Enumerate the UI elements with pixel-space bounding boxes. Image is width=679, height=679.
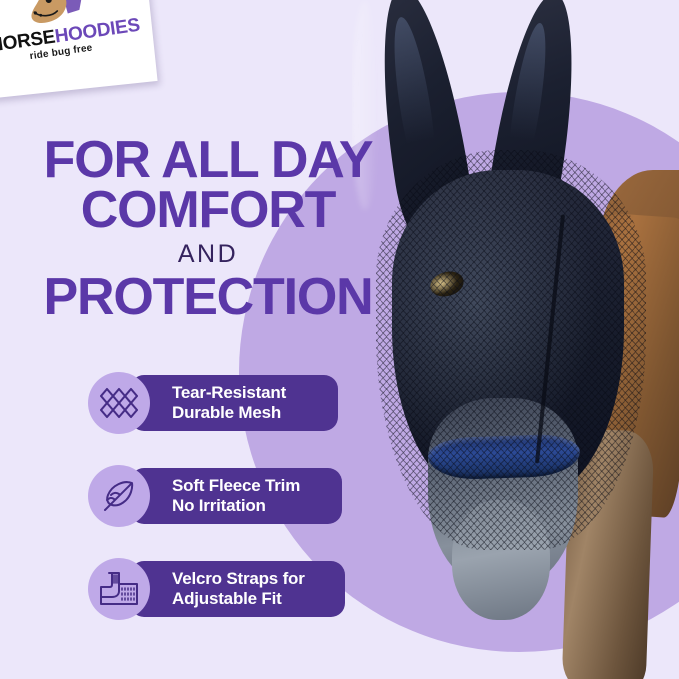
feature-item-fleece: Soft Fleece Trim No Irritation — [88, 465, 348, 527]
logo-banner: HORSEHOODIES ride bug free — [0, 0, 158, 98]
feature-pill-velcro: Velcro Straps for Adjustable Fit — [130, 561, 345, 617]
marketing-image-canvas: HORSEHOODIES ride bug free FOR ALL DAY C… — [0, 0, 679, 679]
feature-label-velcro: Velcro Straps for Adjustable Fit — [172, 569, 305, 609]
feature-icon-circle-fleece — [88, 465, 150, 527]
product-photo — [352, 0, 679, 679]
feature-pill-mesh: Tear-Resistant Durable Mesh — [130, 375, 338, 431]
headline-block: FOR ALL DAY COMFORT AND PROTECTION — [22, 136, 394, 323]
feature-label-fleece: Soft Fleece Trim No Irritation — [172, 476, 300, 516]
feature-label-mesh: Tear-Resistant Durable Mesh — [172, 383, 286, 423]
headline-line-3: PROTECTION — [22, 273, 394, 323]
feature-item-mesh: Tear-Resistant Durable Mesh — [88, 372, 348, 434]
feature-icon-circle-mesh — [88, 372, 150, 434]
feature-icon-circle-velcro — [88, 558, 150, 620]
headline-line-2: COMFORT — [22, 186, 394, 236]
feather-icon — [100, 477, 138, 515]
fly-mask-mesh — [376, 150, 646, 550]
feature-pill-fleece: Soft Fleece Trim No Irritation — [130, 468, 342, 524]
feature-list: Tear-Resistant Durable Mesh Soft Fl — [88, 372, 348, 651]
mesh-lattice-icon — [100, 385, 138, 421]
logo-lockup: HORSEHOODIES ride bug free — [0, 0, 132, 74]
velcro-strap-icon — [99, 571, 139, 607]
headline-line-1: FOR ALL DAY — [22, 136, 394, 186]
feature-item-velcro: Velcro Straps for Adjustable Fit — [88, 558, 348, 620]
